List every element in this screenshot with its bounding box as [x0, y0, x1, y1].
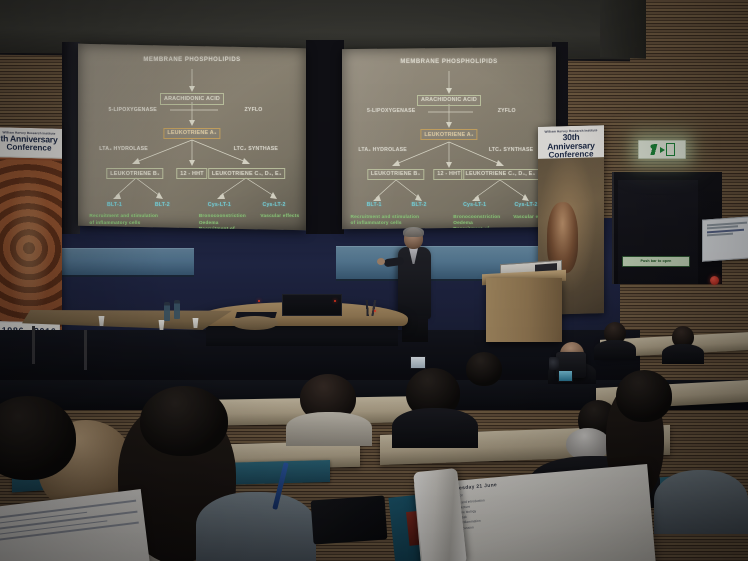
whiteboard-left — [44, 248, 194, 277]
speaker-hair — [403, 227, 424, 237]
water-bottle — [164, 302, 170, 321]
audience-head — [616, 370, 672, 422]
audience-shoulders — [286, 412, 372, 446]
door-icon — [666, 143, 675, 156]
lectern-monitor[interactable] — [282, 294, 342, 316]
box-leukotriene-b4: LEUKOTRIENE B₄ — [106, 168, 163, 179]
podium — [486, 278, 562, 342]
projection-screen-left: MEMBRANE PHOSPHOLIPIDS ARACHIDONIC ACID … — [78, 44, 306, 230]
slide-leukotriene-pathway-right: MEMBRANE PHOSPHOLIPIDS ARACHIDONIC ACID … — [342, 48, 556, 228]
receptor-blt1: BLT-1 — [367, 202, 382, 208]
water-bottle — [174, 300, 180, 319]
box-arachidonic-acid: ARACHIDONIC ACID — [417, 95, 481, 106]
projection-screen-right: MEMBRANE PHOSPHOLIPIDS ARACHIDONIC ACID … — [342, 47, 556, 229]
audience-head — [466, 352, 502, 386]
label-zyflo: ZYFLO — [245, 107, 263, 113]
slide-leukotriene-pathway-left: MEMBRANE PHOSPHOLIPIDS ARACHIDONIC ACID … — [78, 46, 306, 228]
effect-cyslt2: Vascular effects — [260, 213, 299, 219]
effect-cyslt1: Bronocoonstriction Oedema Recruitment of… — [453, 214, 500, 230]
receptor-cyslt2: Cys-LT-2 — [263, 202, 286, 208]
box-leukotriene-a4: LEUKOTRIENE A₄ — [163, 128, 220, 139]
banner-header: William Harvey Research Institute th Ann… — [0, 127, 62, 158]
receptor-blt1: BLT-1 — [107, 202, 122, 208]
receptor-cyslt2: Cys-LT-2 — [514, 202, 537, 208]
audience-head — [140, 386, 228, 456]
table-leg — [84, 330, 87, 370]
audience-shoulders-knit — [196, 492, 316, 561]
effect-blt: Recruitment and stimulation of inflammat… — [89, 213, 158, 225]
emergency-button[interactable] — [710, 276, 719, 285]
video-camera — [556, 352, 586, 378]
speaker-hand — [377, 258, 385, 265]
receptor-blt2: BLT-2 — [412, 202, 427, 208]
box-leukotriene-cde: LEUKOTRIENE C₄, D₄, E₄ — [208, 168, 286, 179]
audience-shoulders — [662, 344, 704, 364]
box-12-hht: 12 - HHT — [176, 168, 207, 179]
exit-door[interactable] — [618, 180, 698, 284]
label-zyflo: ZYFLO — [498, 108, 516, 114]
label-lta4-hydrolase: LTA₄ HYDROLASE — [358, 147, 407, 153]
box-12-hht: 12 - HHT — [433, 169, 464, 180]
status-led — [258, 300, 260, 302]
audience-shoulders — [594, 340, 636, 360]
slide-title: MEMBRANE PHOSPHOLIPIDS — [342, 59, 556, 65]
status-led — [374, 310, 376, 312]
effect-blt: Recruitment and stimulation of inflammat… — [351, 214, 420, 226]
slide-title: MEMBRANE PHOSPHOLIPIDS — [78, 57, 306, 63]
screen-frame-middle — [306, 40, 344, 234]
push-bar-sign: Push bar to open — [622, 256, 690, 267]
arrow-right-icon — [660, 147, 665, 153]
status-led — [334, 300, 336, 302]
ceiling-soffit-edge — [600, 0, 646, 59]
running-man-icon — [650, 144, 659, 155]
desk-equipment — [352, 300, 386, 316]
box-leukotriene-cde: LEUKOTRIENE C₄, D₄, E₄ — [462, 169, 540, 180]
table-leg — [32, 326, 35, 364]
label-ltc4-synthase: LTC₄ SYNTHASE — [489, 147, 533, 153]
camera-lens-icon — [549, 357, 559, 370]
emergency-exit-icon — [638, 140, 686, 159]
label-5-lipoxygenase: 5-LIPOXYGENASE — [367, 108, 415, 114]
label-ltc4-synthase: LTC₄ SYNTHASE — [234, 146, 278, 152]
wall-notice — [702, 216, 748, 261]
label-5-lipoxygenase: 5-LIPOXYGENASE — [109, 107, 157, 113]
label-lta4-hydrolase: LTA₄ HYDROLASE — [99, 146, 148, 152]
camera-lcd-screen — [558, 370, 573, 382]
effect-cyslt1: Bronocoonstriction Oedema Recruitment of… — [199, 213, 246, 230]
box-leukotriene-b4: LEUKOTRIENE B₄ — [367, 169, 424, 180]
tablet-device[interactable] — [311, 495, 388, 544]
receptor-cyslt1: Cys-LT-1 — [463, 202, 486, 208]
banner-conference: Conference — [0, 143, 60, 153]
receptor-blt2: BLT-2 — [155, 202, 170, 208]
audience-shoulders — [654, 470, 748, 534]
lecture-hall-photo: Push bar to open — [0, 0, 748, 561]
receptor-cyslt1: Cys-LT-1 — [208, 202, 231, 208]
smartphone[interactable] — [410, 356, 426, 369]
box-arachidonic-acid: ARACHIDONIC ACID — [160, 93, 224, 104]
side-table — [232, 316, 278, 330]
audience-shoulders — [392, 408, 478, 448]
box-leukotriene-a4: LEUKOTRIENE A₄ — [420, 129, 477, 140]
